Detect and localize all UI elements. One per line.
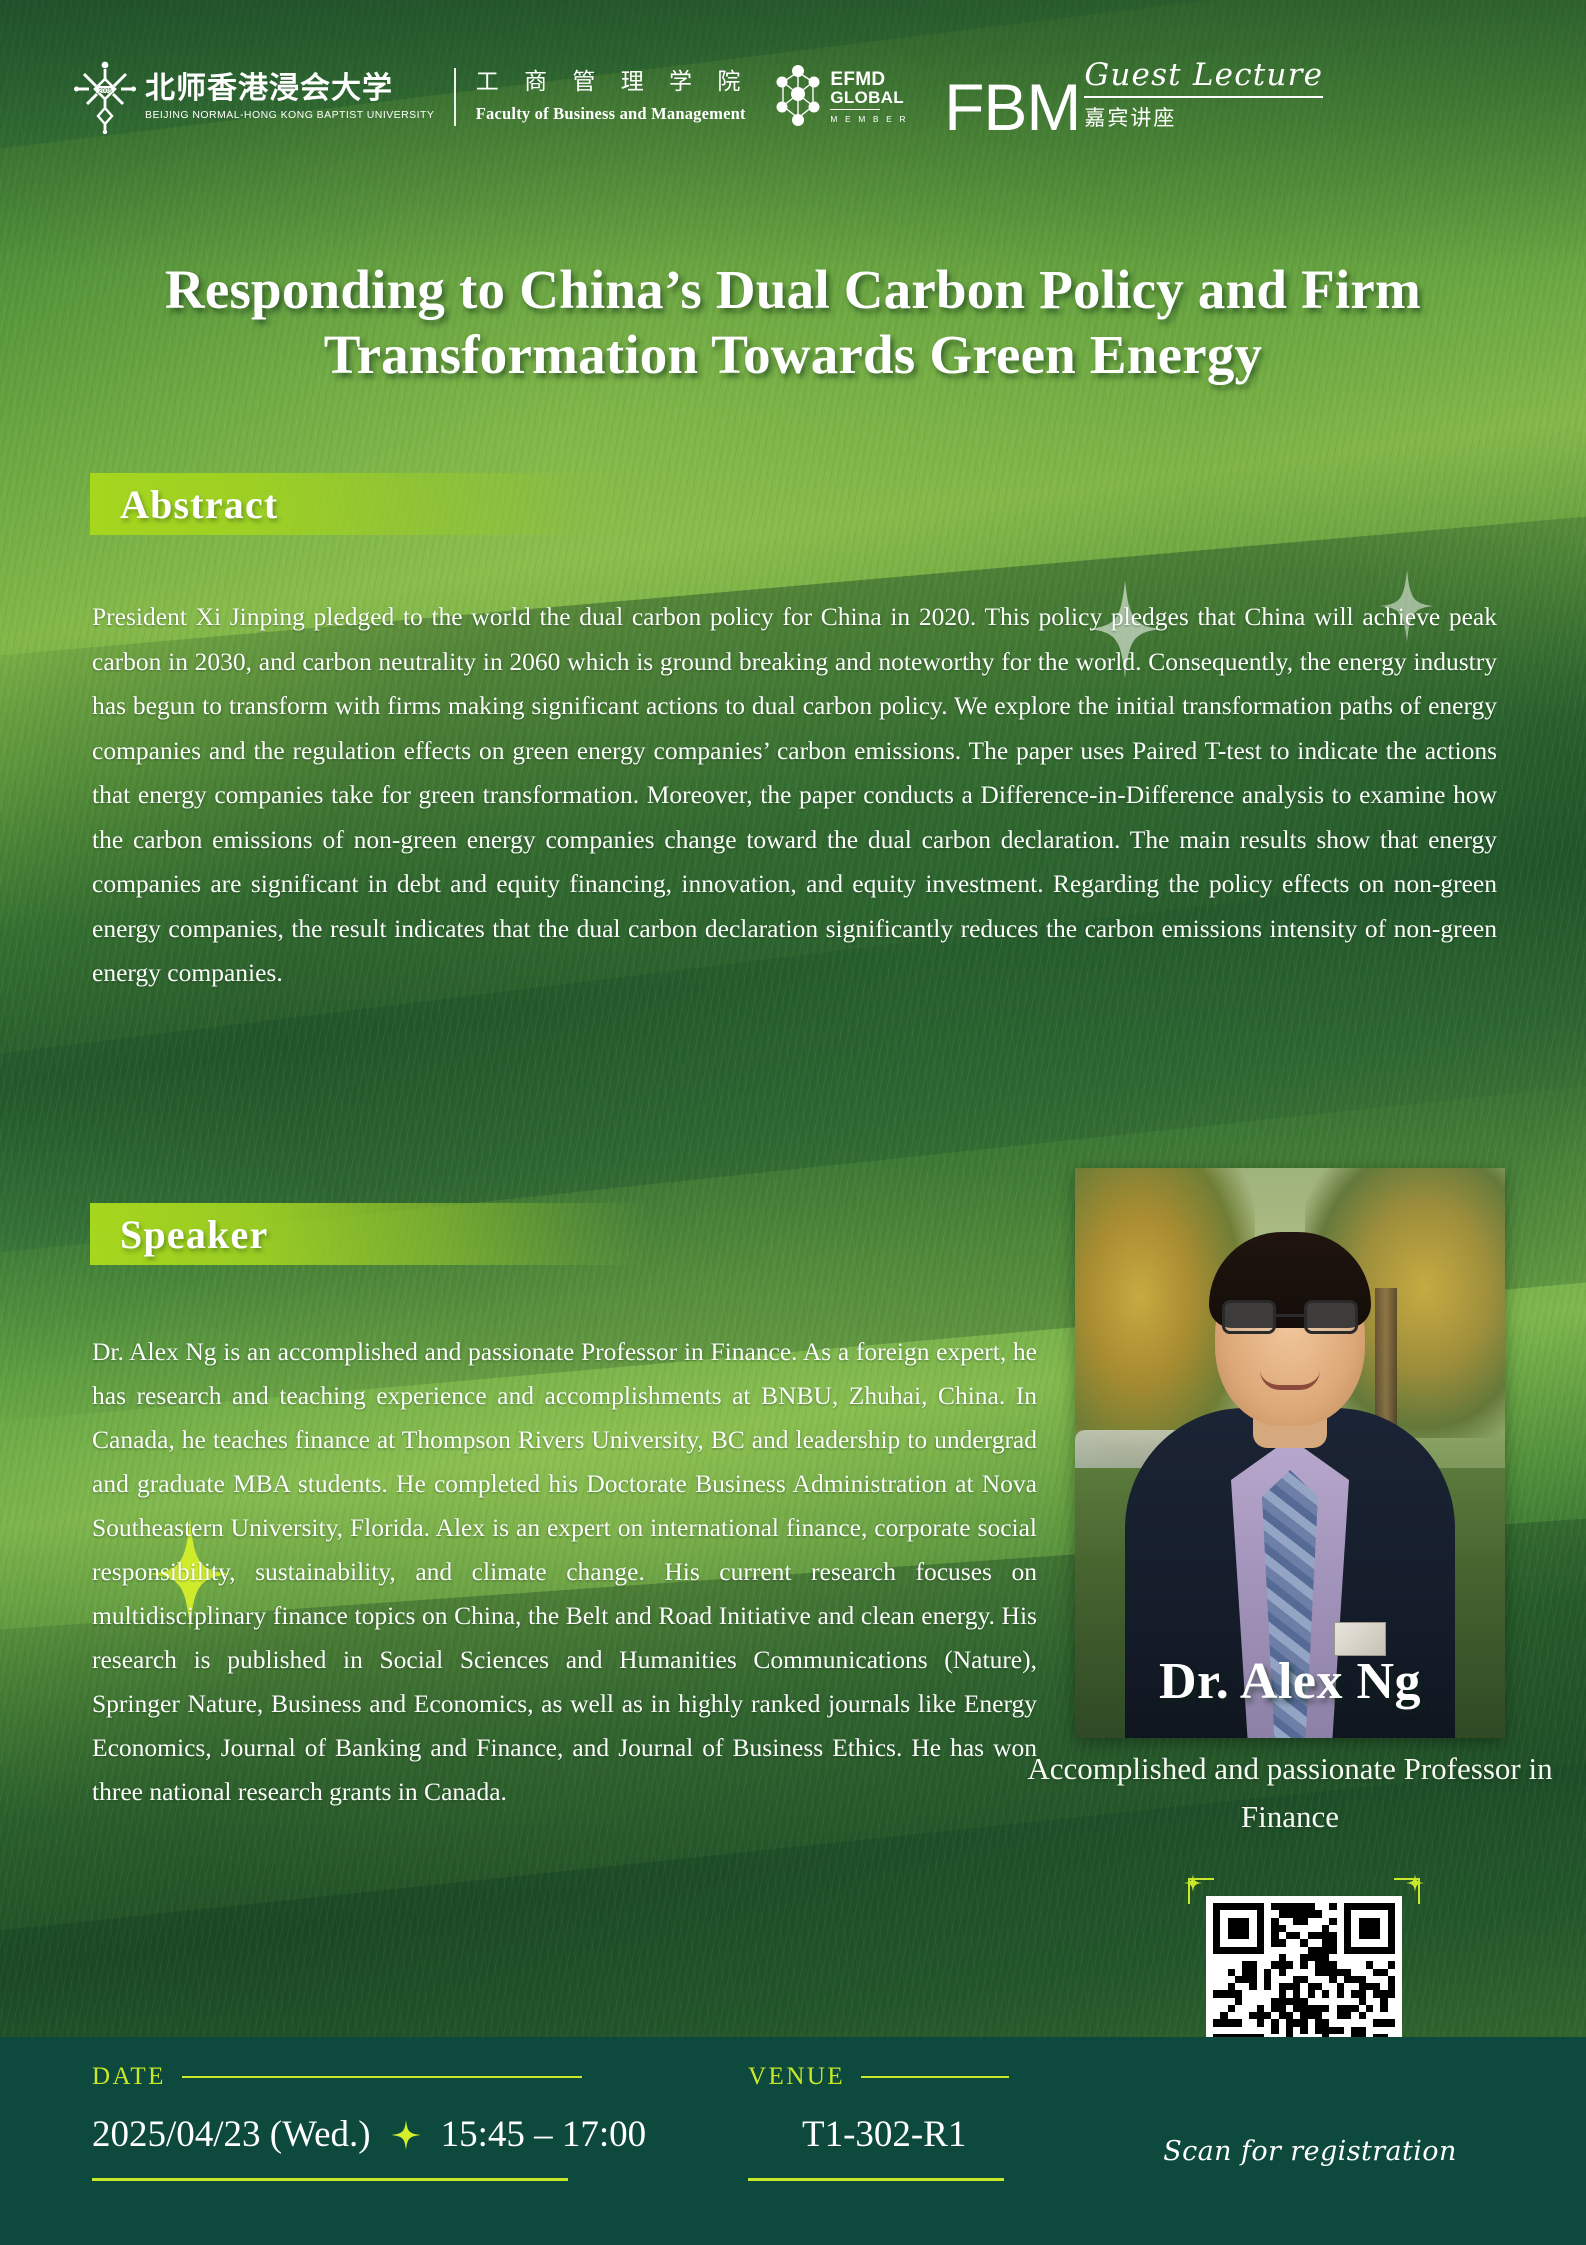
fbm-wordmark: FBM [944,82,1080,133]
venue-column: VENUE T1-302-R1 [748,2063,1009,2181]
fbm-divider-rule [1084,96,1323,98]
efmd-network-icon [771,62,825,132]
date-label-row: DATE [92,2063,646,2091]
poster-title: Responding to China’s Dual Carbon Policy… [0,258,1586,388]
date-label-rule [182,2076,582,2079]
sparkle-icon-footer [391,2120,421,2150]
university-logo: 2005 北师香港浸会大学 BEIJING NORMAL-HONG KONG B… [74,60,434,134]
sparkle-icon-qr-tl [1184,1874,1202,1892]
header-divider-1 [454,68,456,126]
time-value: 15:45 – 17:00 [441,2113,647,2156]
date-value-row: 2025/04/23 (Wed.) 15:45 – 17:00 [92,2113,646,2156]
photo-person-name-badge [1334,1622,1386,1656]
abstract-text: President Xi Jinping pledged to the worl… [92,595,1497,996]
venue-label-row: VENUE [748,2063,1009,2091]
guest-lecture-cn: 嘉宾讲座 [1084,102,1323,132]
date-label: DATE [92,2063,166,2091]
efmd-rule [830,109,880,110]
venue-underline [748,2178,1004,2181]
photo-person-glasses [1222,1300,1358,1338]
venue-value-row: T1-302-R1 [748,2113,1009,2156]
university-name-en: BEIJING NORMAL-HONG KONG BAPTIST UNIVERS… [145,109,434,121]
efmd-name: EFMD [830,70,908,89]
fbm-guest-lecture-logo: FBM Guest Lecture 嘉宾讲座 [944,60,1323,134]
venue-label-rule [861,2076,1009,2079]
sparkle-icon-qr-tr [1406,1874,1424,1892]
speaker-caption: Accomplished and passionate Professor in… [1012,1745,1568,1841]
abstract-heading: Abstract [120,481,278,528]
emblem-year-text: 2005 [98,88,112,94]
faculty-name-cn: 工 商 管 理 学 院 [476,70,750,95]
university-name-cn: 北师香港浸会大学 [145,73,434,105]
abstract-section-badge: Abstract [90,473,650,535]
efmd-logo: EFMD GLOBAL M E M B E R [771,62,908,132]
date-underline [92,2178,568,2181]
poster-canvas: 2005 北师香港浸会大学 BEIJING NORMAL-HONG KONG B… [0,0,1586,2245]
faculty-name-en: Faculty of Business and Management [476,104,750,124]
speaker-heading: Speaker [120,1211,268,1258]
venue-value: T1-302-R1 [802,2113,966,2156]
speaker-bio-text: Dr. Alex Ng is an accomplished and passi… [92,1330,1037,1814]
fbm-lockup-right: Guest Lecture 嘉宾讲座 [1084,60,1323,132]
speaker-name: Dr. Alex Ng [1020,1652,1560,1711]
efmd-global: GLOBAL [830,89,908,106]
header-logo-row: 2005 北师香港浸会大学 BEIJING NORMAL-HONG KONG B… [74,58,1323,136]
efmd-wordmark: EFMD GLOBAL M E M B E R [830,70,908,124]
university-emblem-icon: 2005 [74,60,136,134]
date-value: 2025/04/23 (Wed.) [92,2113,371,2156]
speaker-section-badge: Speaker [90,1203,650,1265]
efmd-member: M E M B E R [830,114,908,124]
date-column: DATE 2025/04/23 (Wed.) 15:45 – 17:00 [92,2063,646,2181]
university-names: 北师香港浸会大学 BEIJING NORMAL-HONG KONG BAPTIS… [145,73,434,122]
scan-for-registration-text: Scan for registration [1140,2136,1480,2167]
faculty-logo: 工 商 管 理 学 院 Faculty of Business and Mana… [476,70,750,123]
venue-label: VENUE [748,2063,845,2091]
guest-lecture-script: Guest Lecture [1084,60,1323,91]
